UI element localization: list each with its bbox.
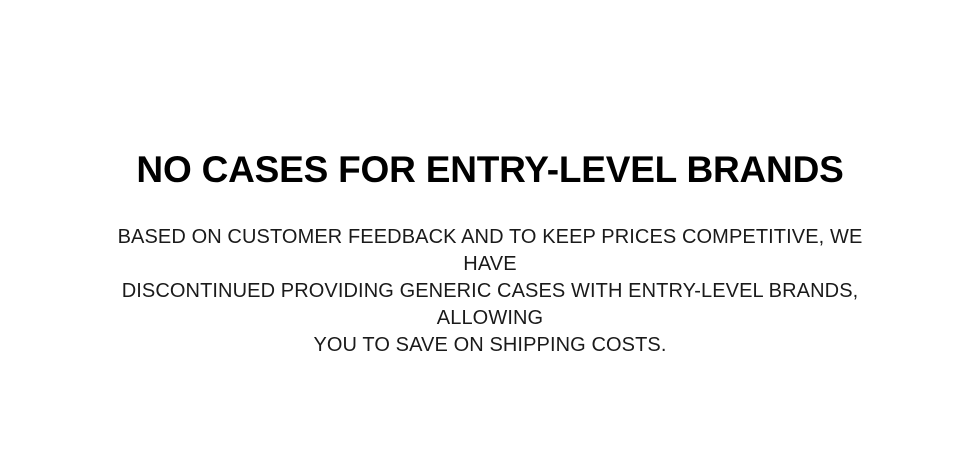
body-line: YOU TO SAVE ON SHIPPING COSTS.: [95, 332, 885, 359]
body-line: BASED ON CUSTOMER FEEDBACK AND TO KEEP P…: [95, 224, 885, 278]
promo-banner: NO CASES FOR ENTRY-LEVEL BRANDS BASED ON…: [0, 0, 980, 450]
banner-body-text: BASED ON CUSTOMER FEEDBACK AND TO KEEP P…: [95, 224, 885, 359]
banner-heading: NO CASES FOR ENTRY-LEVEL BRANDS: [0, 148, 980, 192]
body-line: DISCONTINUED PROVIDING GENERIC CASES WIT…: [95, 278, 885, 332]
